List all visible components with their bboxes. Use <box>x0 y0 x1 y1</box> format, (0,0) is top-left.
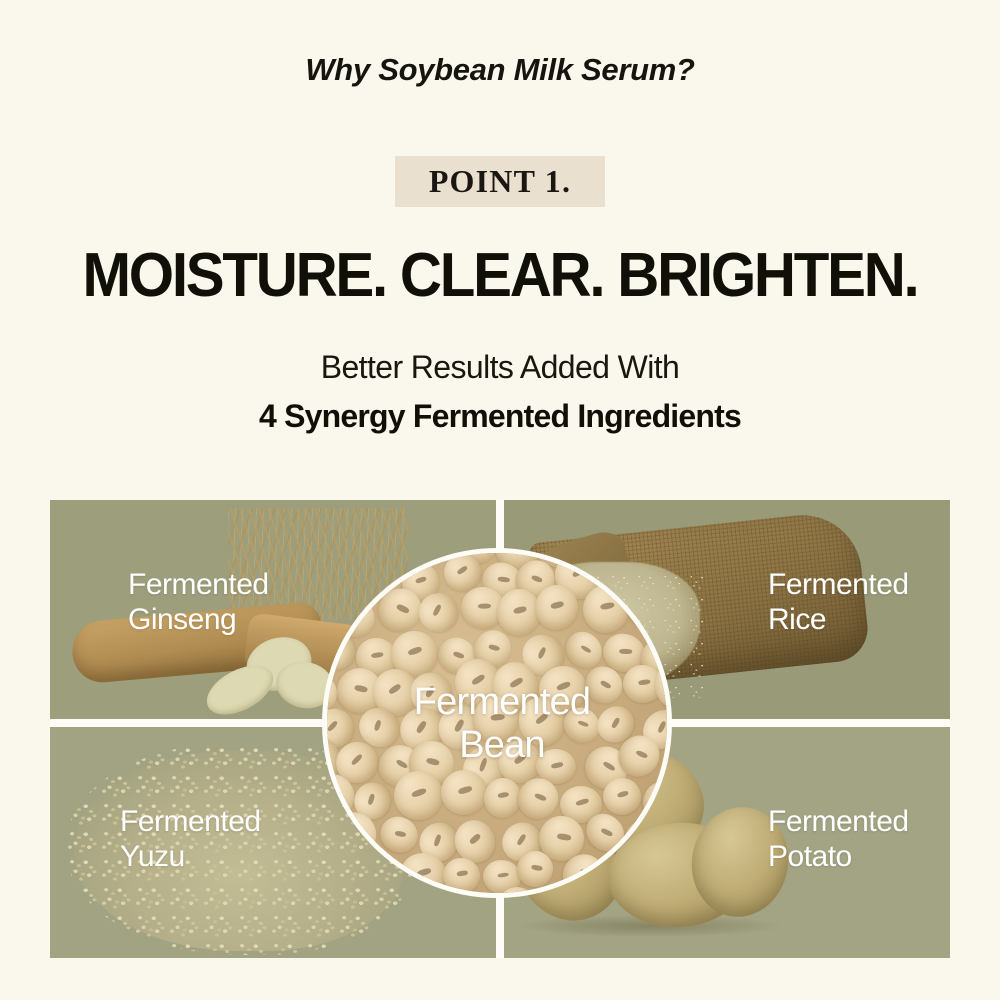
point-badge: POINT 1. <box>395 156 605 207</box>
quadrant-label-rice: Fermented Rice <box>768 568 909 638</box>
subtitle-line-1: Better Results Added With <box>0 349 1000 386</box>
center-circle-bean: Fermented Bean <box>322 548 672 898</box>
page-headline: MOISTURE. CLEAR. BRIGHTEN. <box>30 240 970 311</box>
point-badge-container: POINT 1. <box>0 156 1000 207</box>
eyebrow-question: Why Soybean Milk Serum? <box>0 52 1000 88</box>
quadrant-label-yuzu: Fermented Yuzu <box>120 805 261 875</box>
ingredient-collage: Fermented Ginseng Fermented Rice Ferment… <box>50 500 950 958</box>
quadrant-label-potato: Fermented Potato <box>768 805 909 875</box>
product-info-page: Why Soybean Milk Serum? POINT 1. MOISTUR… <box>0 0 1000 1000</box>
subtitle-line-2: 4 Synergy Fermented Ingredients <box>0 398 1000 435</box>
center-circle-label: Fermented Bean <box>327 681 672 766</box>
quadrant-label-ginseng: Fermented Ginseng <box>128 568 269 638</box>
